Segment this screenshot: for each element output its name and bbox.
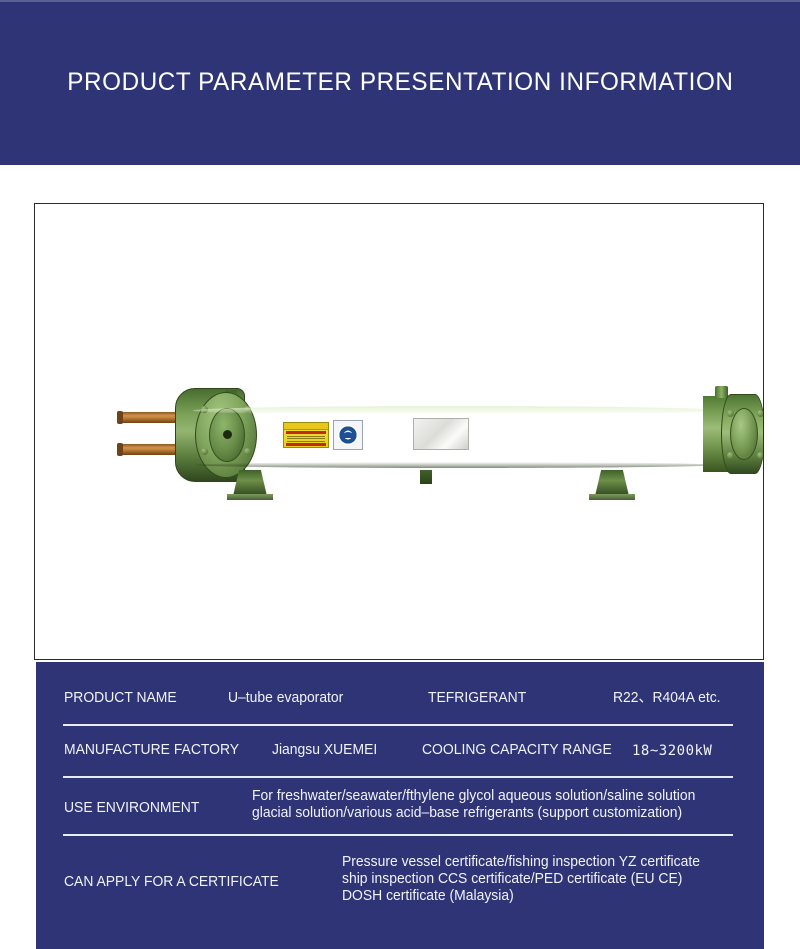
top-vent-nozzle: [715, 386, 728, 398]
page-title: PRODUCT PARAMETER PRESENTATION INFORMATI…: [67, 68, 733, 97]
spec-label-use-environment: USE ENVIRONMENT: [64, 800, 199, 817]
spec-value-line: ship inspection CCS certificate/PED cert…: [342, 871, 745, 888]
warning-label: [283, 422, 329, 448]
spec-label-cooling-capacity-range: COOLING CAPACITY RANGE: [422, 742, 612, 759]
spec-value-use-environment: For freshwater/seawater/fthylene glycol …: [252, 788, 722, 822]
shell-highlight: [193, 406, 718, 415]
warning-label-red-text: [286, 431, 326, 434]
warning-label-text-line: [287, 441, 325, 442]
spec-label-manufacture-factory: MANUFACTURE FACTORY: [64, 742, 239, 759]
spec-value-product-name: U–tube evaporator: [228, 690, 343, 707]
spec-label-refrigerant: TEFRIGERANT: [428, 690, 526, 707]
spec-value-line: For freshwater/seawater/fthylene glycol …: [252, 788, 722, 805]
spec-value-certificate: Pressure vessel certificate/fishing insp…: [342, 854, 745, 905]
evaporator-vessel-illustration: [75, 382, 725, 492]
warning-label-text-line: [287, 438, 325, 439]
spec-value-manufacture-factory: Jiangsu XUEMEI: [272, 742, 377, 759]
product-image-panel: [34, 203, 764, 660]
copper-inlet-pipe-end: [117, 411, 123, 424]
spec-value-line: glacial solution/various acid–base refri…: [252, 805, 722, 822]
warning-label-red-text: [286, 443, 326, 446]
product-photo: [35, 204, 763, 659]
spec-value-line: DOSH certificate (Malaysia): [342, 888, 745, 905]
certification-logo-icon: [338, 425, 358, 445]
spec-table: PRODUCT NAME U–tube evaporator TEFRIGERA…: [36, 662, 764, 949]
certification-sticker: [333, 420, 363, 450]
copper-outlet-pipe-end: [117, 443, 123, 456]
right-flange-bolt: [727, 410, 734, 417]
support-saddle-right: [595, 470, 629, 496]
support-base-plate-left: [227, 494, 273, 500]
right-flange-bolt: [727, 452, 734, 459]
row-separator: [63, 724, 733, 726]
row-separator: [63, 834, 733, 836]
right-flange-bolt: [757, 410, 764, 417]
warning-label-text-line: [287, 436, 325, 437]
right-flange-bolt: [757, 452, 764, 459]
mid-mounting-tab: [420, 470, 432, 484]
spec-label-product-name: PRODUCT NAME: [64, 690, 177, 707]
row-separator: [63, 776, 733, 778]
product-nameplate: [413, 418, 469, 450]
spec-value-line: Pressure vessel certificate/fishing insp…: [342, 854, 745, 871]
spec-value-refrigerant: R22、R404A etc.: [613, 690, 721, 707]
shell-shadow: [195, 462, 715, 468]
warning-label-header: [284, 423, 328, 430]
spec-value-cooling-capacity-range: 18~3200kW: [632, 743, 712, 760]
spec-label-certificate: CAN APPLY FOR A CERTIFICATE: [64, 874, 279, 891]
header-top-accent-line: [0, 0, 800, 2]
page-header: PRODUCT PARAMETER PRESENTATION INFORMATI…: [0, 0, 800, 165]
right-flange-face: [730, 408, 758, 460]
support-base-plate-right: [589, 494, 635, 500]
